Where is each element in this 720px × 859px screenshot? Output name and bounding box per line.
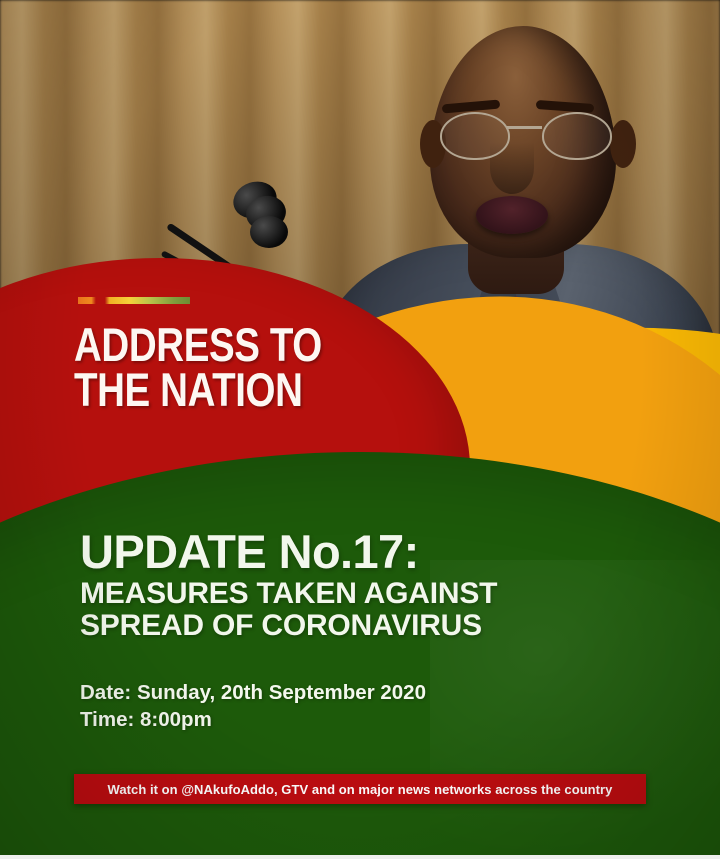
update-headline: UPDATE No.17:	[80, 528, 640, 575]
lens-left	[440, 112, 510, 160]
date-label: Date:	[80, 681, 131, 704]
glasses-bridge	[506, 126, 542, 129]
eyeglasses-icon	[436, 112, 614, 158]
event-meta: Date: Sunday, 20th September 2020 Time: …	[80, 680, 426, 733]
watch-banner-text: Watch it on @NAkufoAddo, GTV and on majo…	[108, 782, 613, 797]
mouth	[476, 196, 548, 234]
update-subheadline-line2: SPREAD OF CORONAVIRUS	[80, 610, 640, 642]
update-block: UPDATE No.17: MEASURES TAKEN AGAINST SPR…	[80, 528, 640, 642]
address-title-line2: THE NATION	[74, 367, 402, 412]
tricolor-rule-icon	[78, 297, 190, 304]
lens-right	[542, 112, 612, 160]
microphone-icon-3	[250, 216, 288, 248]
address-to-the-nation-poster: ADDRESS TO THE NATION UPDATE No.17: MEAS…	[0, 0, 720, 859]
update-subheadline: MEASURES TAKEN AGAINST SPREAD OF CORONAV…	[80, 578, 640, 642]
date-row: Date: Sunday, 20th September 2020	[80, 680, 426, 707]
time-label: Time:	[80, 708, 134, 731]
bottom-strip	[0, 855, 720, 859]
update-subheadline-line1: MEASURES TAKEN AGAINST	[80, 578, 640, 610]
time-value: 8:00pm	[140, 708, 212, 731]
watch-banner: Watch it on @NAkufoAddo, GTV and on majo…	[74, 774, 646, 804]
date-value: Sunday, 20th September 2020	[137, 681, 426, 704]
address-title: ADDRESS TO THE NATION	[74, 322, 402, 412]
time-row: Time: 8:00pm	[80, 707, 426, 734]
